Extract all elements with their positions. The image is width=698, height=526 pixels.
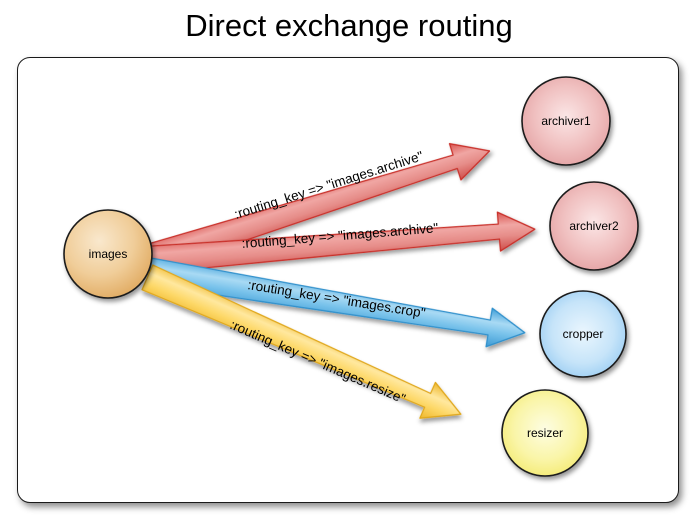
node-archiver1[interactable]: archiver1 (522, 77, 610, 165)
edge-label-images-resizer: :routing_key => "images.resize" (228, 317, 408, 406)
routing-diagram: :routing_key => "images.archive" :routin… (0, 0, 698, 526)
node-resizer-label: resizer (527, 426, 563, 440)
node-archiver1-label: archiver1 (541, 114, 591, 128)
node-images[interactable]: images (64, 210, 152, 298)
node-archiver2-label: archiver2 (569, 219, 619, 233)
node-cropper-label: cropper (563, 327, 604, 341)
node-resizer[interactable]: resizer (502, 390, 588, 476)
node-images-label: images (89, 247, 128, 261)
node-cropper[interactable]: cropper (540, 291, 626, 377)
node-archiver2[interactable]: archiver2 (550, 182, 638, 270)
diagram-stage: Direct exchange routing (0, 0, 698, 526)
